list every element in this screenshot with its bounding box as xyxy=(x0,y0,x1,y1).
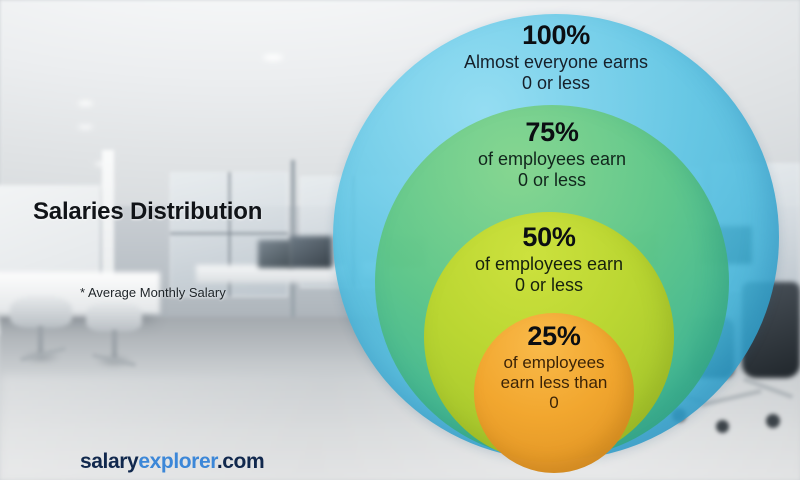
ring-25-line2: earn less than xyxy=(474,373,634,393)
logo-part-tld: .com xyxy=(217,450,264,473)
ring-75-label-group: 75% of employees earn 0 or less xyxy=(375,117,729,191)
site-logo[interactable]: salaryexplorer.com xyxy=(80,450,264,474)
ring-25-line3: 0 xyxy=(474,393,634,413)
infographic-canvas: Salaries Distribution * Average Monthly … xyxy=(0,0,800,480)
ring-75-line1: of employees earn xyxy=(375,149,729,170)
logo-part-salary: salary xyxy=(80,450,138,473)
ring-50-label-group: 50% of employees earn 0 or less xyxy=(424,222,674,296)
ring-50-line1: of employees earn xyxy=(424,254,674,275)
ring-25-percent: 25% of employees earn less than 0 xyxy=(474,313,634,473)
ring-25-line1: of employees xyxy=(474,353,634,373)
ring-25-label-group: 25% of employees earn less than 0 xyxy=(474,321,634,413)
ring-75-percent-value: 75% xyxy=(375,117,729,149)
ring-25-percent-value: 25% xyxy=(474,321,634,353)
ring-100-line2: 0 or less xyxy=(333,73,779,94)
ring-50-percent-value: 50% xyxy=(424,222,674,254)
logo-part-explorer: explorer xyxy=(138,450,217,473)
ring-75-line2: 0 or less xyxy=(375,170,729,191)
ring-100-label-group: 100% Almost everyone earns 0 or less xyxy=(333,20,779,94)
ring-50-line2: 0 or less xyxy=(424,275,674,296)
ring-100-line1: Almost everyone earns xyxy=(333,52,779,73)
ring-100-percent-value: 100% xyxy=(333,20,779,52)
nested-circles-chart: 100% Almost everyone earns 0 or less 75%… xyxy=(0,0,800,480)
